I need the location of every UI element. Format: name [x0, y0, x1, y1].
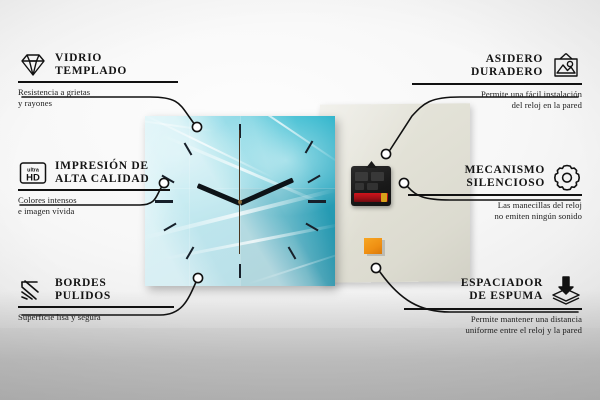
vignette-overlay	[0, 0, 600, 400]
